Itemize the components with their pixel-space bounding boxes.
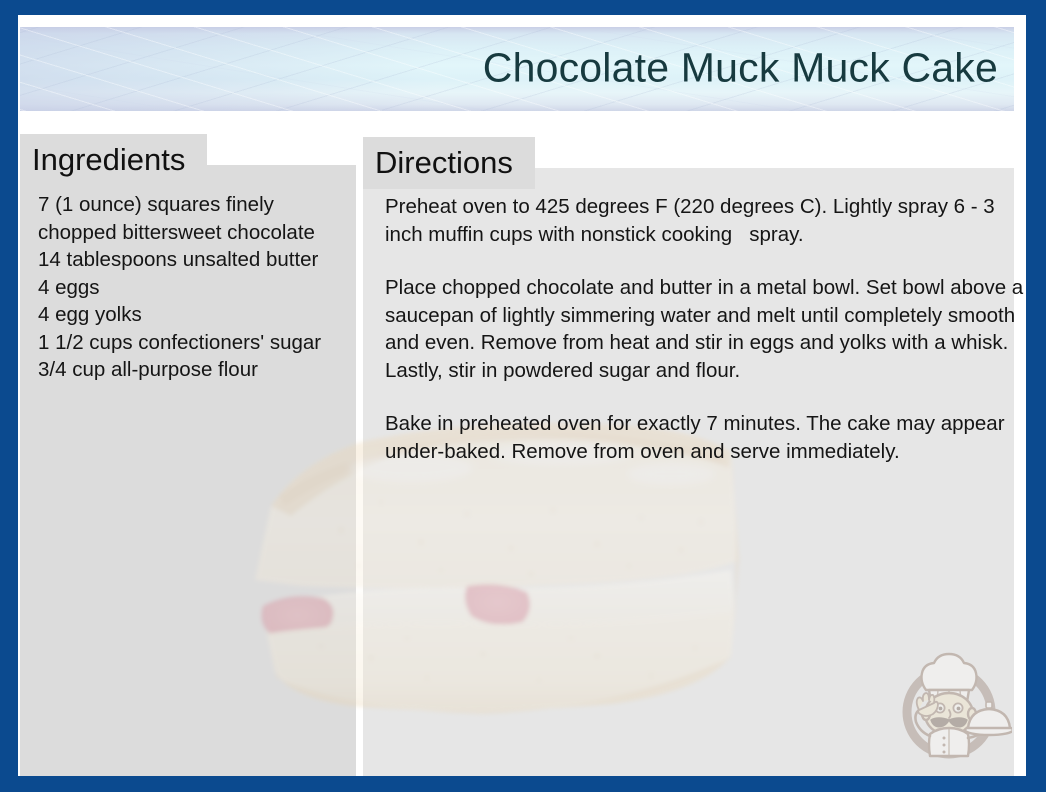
- list-item: 3/4 cup all-purpose flour: [38, 356, 348, 384]
- list-item: 1 1/2 cups confectioners' sugar: [38, 329, 348, 357]
- page-title: Chocolate Muck Muck Cake: [483, 45, 998, 92]
- recipe-page: Chocolate Muck Muck Cake: [18, 15, 1026, 776]
- list-item: 14 tablespoons unsalted butter: [38, 246, 348, 274]
- tab-ingredients[interactable]: Ingredients: [20, 134, 207, 186]
- directions-paragraph: Bake in preheated oven for exactly 7 min…: [385, 410, 1026, 465]
- list-item: 7 (1 ounce) squares finely: [38, 191, 348, 219]
- ingredients-list: 7 (1 ounce) squares finely chopped bitte…: [38, 191, 348, 384]
- list-item: 4 eggs: [38, 274, 348, 302]
- directions-paragraph: Place chopped chocolate and butter in a …: [385, 274, 1026, 384]
- recipe-card: Chocolate Muck Muck Cake: [0, 0, 1046, 792]
- list-item: chopped bittersweet chocolate: [38, 219, 348, 247]
- list-item: 4 egg yolks: [38, 301, 348, 329]
- directions-body: Preheat oven to 425 degrees F (220 degre…: [385, 193, 1026, 465]
- tab-directions[interactable]: Directions: [363, 137, 535, 189]
- header-banner: Chocolate Muck Muck Cake: [20, 27, 1014, 111]
- directions-paragraph: Preheat oven to 425 degrees F (220 degre…: [385, 193, 1026, 248]
